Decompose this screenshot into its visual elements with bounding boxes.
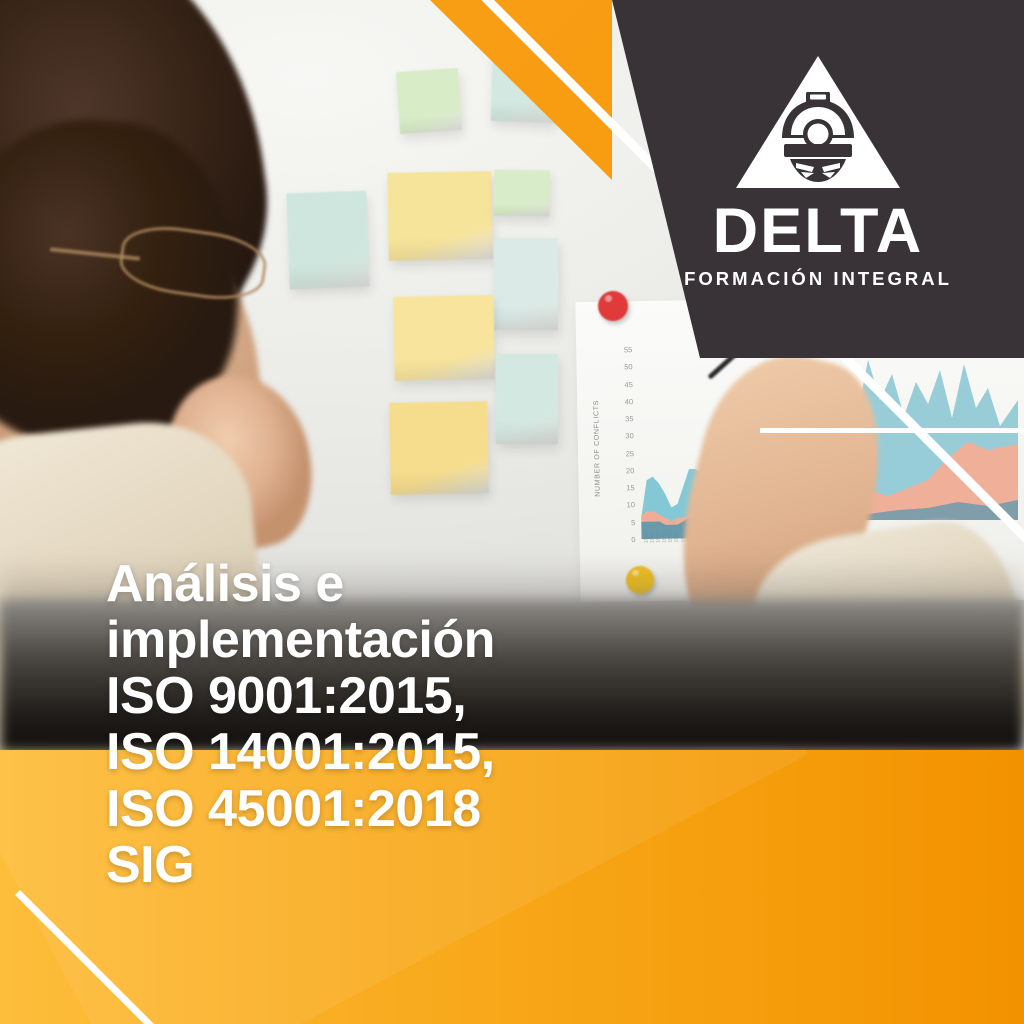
page-title-line-2: implementación: [106, 612, 726, 668]
brand-tagline: FORMACIÓN INTEGRAL: [684, 268, 952, 290]
triangle-miner-helmet-icon: [734, 52, 902, 192]
chart-y-tick: 30: [618, 432, 634, 441]
sticky-note: [494, 238, 558, 330]
chart-y-tick: 25: [618, 449, 634, 458]
page-title-line-1: Análisis e: [106, 556, 726, 612]
brand-logo: DELTA FORMACIÓN INTEGRAL: [612, 0, 1024, 358]
chart-y-tick: 20: [618, 466, 634, 475]
promo-poster: NUMBER OF CONFLICTS 05101520253035404550…: [0, 0, 1024, 1024]
chart-y-tick: 45: [617, 380, 633, 389]
page-title: Análisis eimplementaciónISO 9001:2015,IS…: [106, 556, 726, 893]
page-title-line-5: ISO 45001:2018: [106, 781, 726, 837]
sticky-note: [396, 68, 462, 134]
sticky-note: [387, 171, 493, 261]
chart-y-tick: 15: [619, 483, 635, 492]
sticky-note: [496, 354, 558, 444]
chart-y-tick: 35: [617, 414, 633, 423]
brand-wordmark: DELTA: [713, 200, 924, 263]
chart-y-tick: 5: [619, 518, 635, 527]
sticky-note: [389, 401, 489, 495]
sticky-note: [494, 170, 551, 217]
chart-y-tick: 0: [619, 535, 635, 544]
page-title-line-3: ISO 9001:2015,: [106, 668, 726, 724]
chart-y-axis-label: NUMBER OF CONFLICTS: [593, 400, 602, 497]
sticky-note: [393, 295, 494, 381]
chart-y-tick: 50: [616, 362, 632, 371]
sticky-note: [286, 191, 369, 290]
chart-y-tick: 10: [619, 501, 635, 510]
page-title-line-4: ISO 14001:2015,: [106, 724, 726, 780]
page-title-line-6: SIG: [106, 837, 726, 893]
chart-y-tick: 40: [617, 397, 633, 406]
